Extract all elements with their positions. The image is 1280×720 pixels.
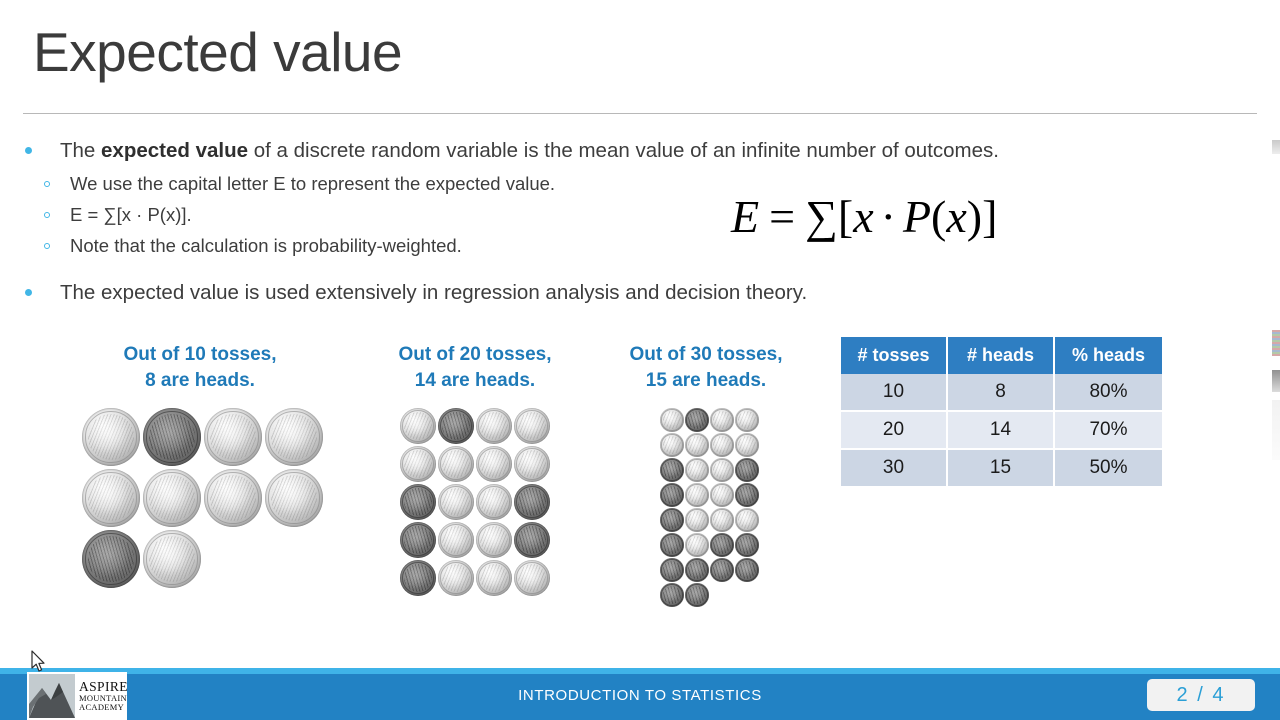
coin-row <box>400 408 552 444</box>
table-cell-tosses: 10 <box>841 374 948 412</box>
coin-heads <box>735 433 759 457</box>
coin-heads <box>476 522 512 558</box>
table-cell-tosses: 20 <box>841 412 948 450</box>
table-cell-pct: 50% <box>1055 450 1162 488</box>
bullet-sub-3: Note that the calculation is probability… <box>22 231 1202 261</box>
coin-heads <box>265 469 323 527</box>
coin-heads <box>400 446 436 482</box>
coin-tails <box>710 558 734 582</box>
coin-field-20-tosses <box>400 408 552 598</box>
footer-accent-strip <box>0 668 1280 674</box>
sub-bullet-ring-icon <box>44 243 50 249</box>
title-divider <box>23 113 1257 114</box>
table-header-tosses: # tosses <box>841 337 948 374</box>
coin-row <box>82 469 326 527</box>
coin-tails <box>735 458 759 482</box>
coin-group-1-title-line2: 8 are heads. <box>100 368 300 394</box>
table-header-pct-heads: % heads <box>1055 337 1162 374</box>
coin-heads <box>514 446 550 482</box>
coin-tails <box>685 583 709 607</box>
formula-x-1: x <box>853 191 873 242</box>
coin-heads <box>660 408 684 432</box>
coin-tails <box>660 583 684 607</box>
bullet-main-1-post: of a discrete random variable is the mea… <box>248 139 999 162</box>
formula-sigma: ∑ <box>805 191 838 242</box>
coin-group-3-title-line2: 15 are heads. <box>606 368 806 394</box>
coin-heads <box>82 408 140 466</box>
coin-group-2-title: Out of 20 tosses, 14 are heads. <box>375 342 575 393</box>
coin-row <box>660 508 760 532</box>
coin-row <box>660 533 760 557</box>
mouse-cursor <box>31 650 47 674</box>
edge-artifact <box>1272 400 1280 460</box>
table-cell-heads: 8 <box>948 374 1055 412</box>
coin-field-30-tosses <box>660 408 760 608</box>
coin-row <box>400 560 552 596</box>
coin-group-1-title: Out of 10 tosses, 8 are heads. <box>100 342 300 393</box>
coin-heads <box>438 560 474 596</box>
coin-heads <box>514 560 550 596</box>
coin-heads <box>710 458 734 482</box>
coin-tails <box>735 483 759 507</box>
bullet-sub-2-text: E = ∑[x · P(x)]. <box>70 204 192 225</box>
coin-heads <box>82 469 140 527</box>
coin-row <box>400 522 552 558</box>
bullet-main-2: The expected value is used extensively i… <box>22 278 1202 309</box>
coin-tails <box>685 408 709 432</box>
coin-tails <box>400 522 436 558</box>
coin-tails <box>514 522 550 558</box>
table-header-heads: # heads <box>948 337 1055 374</box>
coin-tails <box>660 458 684 482</box>
coin-group-1-title-line1: Out of 10 tosses, <box>100 342 300 368</box>
coin-heads <box>735 508 759 532</box>
logo-line-academy: ACADEMY <box>79 703 127 712</box>
formula-paren-close: ) <box>967 191 982 242</box>
coin-heads <box>710 483 734 507</box>
table-row: 10 8 80% <box>841 374 1162 412</box>
bullet-main-1-text: The expected value of a discrete random … <box>60 139 999 162</box>
coin-tails <box>660 508 684 532</box>
edge-artifact <box>1272 330 1280 356</box>
coin-tails <box>514 484 550 520</box>
coin-heads <box>685 508 709 532</box>
coin-heads <box>514 408 550 444</box>
coin-row <box>660 458 760 482</box>
table-row: 20 14 70% <box>841 412 1162 450</box>
bullet-list: The expected value of a discrete random … <box>22 136 1202 310</box>
formula-dot-operator: · <box>881 191 896 242</box>
coin-row <box>660 583 760 607</box>
coin-tails <box>400 560 436 596</box>
table-cell-tosses: 30 <box>841 450 948 488</box>
coin-heads <box>685 433 709 457</box>
coin-tails <box>143 408 201 466</box>
formula-close-bracket: ] <box>982 191 997 242</box>
coin-heads <box>143 530 201 588</box>
coin-tails <box>685 558 709 582</box>
bullet-main-2-text: The expected value is used extensively i… <box>60 281 807 304</box>
coin-heads <box>265 408 323 466</box>
coin-heads <box>710 408 734 432</box>
coin-tails <box>660 483 684 507</box>
coin-row <box>660 558 760 582</box>
formula-E: E <box>731 191 759 242</box>
coin-tails <box>660 533 684 557</box>
table-cell-heads: 14 <box>948 412 1055 450</box>
bullet-main-1-emphasis: expected value <box>101 139 248 162</box>
bullet-sub-1-text: We use the capital letter E to represent… <box>70 173 555 194</box>
coin-tails <box>400 484 436 520</box>
bullet-spacer <box>22 262 1202 278</box>
bullet-dot-icon <box>25 147 32 154</box>
coin-row <box>82 530 326 588</box>
coin-heads <box>143 469 201 527</box>
edge-artifact <box>1272 140 1280 154</box>
coin-row <box>660 408 760 432</box>
coin-tails <box>710 533 734 557</box>
coin-row <box>400 484 552 520</box>
coin-heads <box>438 484 474 520</box>
page-indicator[interactable]: 2 / 4 <box>1147 679 1255 711</box>
coin-tails <box>438 408 474 444</box>
coin-heads <box>685 533 709 557</box>
coin-heads <box>204 408 262 466</box>
coin-heads <box>476 484 512 520</box>
coin-group-2-title-line2: 14 are heads. <box>375 368 575 394</box>
table-cell-pct: 80% <box>1055 374 1162 412</box>
coin-group-3-title: Out of 30 tosses, 15 are heads. <box>606 342 806 393</box>
coin-group-3-title-line1: Out of 30 tosses, <box>606 342 806 368</box>
sub-bullet-ring-icon <box>44 181 50 187</box>
coin-group-2-title-line1: Out of 20 tosses, <box>375 342 575 368</box>
bullet-sub-1: We use the capital letter E to represent… <box>22 169 1202 199</box>
coin-heads <box>710 508 734 532</box>
coin-heads <box>685 458 709 482</box>
coin-tails <box>660 558 684 582</box>
coin-heads <box>685 483 709 507</box>
coin-heads <box>476 560 512 596</box>
coin-heads <box>660 433 684 457</box>
results-table: # tosses # heads % heads 10 8 80% 20 14 … <box>841 337 1162 488</box>
expected-value-formula: E=∑[x·P(x)] <box>731 190 997 243</box>
coin-heads <box>735 408 759 432</box>
coin-heads <box>710 433 734 457</box>
page-title: Expected value <box>33 22 402 83</box>
table-row: 30 15 50% <box>841 450 1162 488</box>
edge-artifact <box>1272 370 1280 392</box>
course-title: INTRODUCTION TO STATISTICS <box>0 687 1280 704</box>
bullet-main-1: The expected value of a discrete random … <box>22 136 1202 167</box>
table-header-row: # tosses # heads % heads <box>841 337 1162 374</box>
coin-tails <box>82 530 140 588</box>
bullet-sub-2: E = ∑[x · P(x)]. <box>22 200 1202 230</box>
coin-row <box>660 483 760 507</box>
slide-canvas: Expected value The expected value of a d… <box>0 0 1280 720</box>
coin-row <box>400 446 552 482</box>
coin-row <box>82 408 326 466</box>
coin-tails <box>735 558 759 582</box>
coin-heads <box>476 408 512 444</box>
coin-heads <box>438 522 474 558</box>
coin-heads <box>400 408 436 444</box>
coin-heads <box>476 446 512 482</box>
bullet-main-1-pre: The <box>60 139 101 162</box>
formula-equals: = <box>769 191 795 242</box>
coin-heads <box>204 469 262 527</box>
table-cell-pct: 70% <box>1055 412 1162 450</box>
coin-heads <box>438 446 474 482</box>
formula-x-2: x <box>946 191 966 242</box>
bullet-sub-3-text: Note that the calculation is probability… <box>70 235 462 256</box>
coin-row <box>660 433 760 457</box>
formula-open-bracket: [ <box>838 191 853 242</box>
formula-paren-open: ( <box>931 191 946 242</box>
coin-tails <box>735 533 759 557</box>
table-cell-heads: 15 <box>948 450 1055 488</box>
formula-P: P <box>903 191 931 242</box>
sub-bullet-ring-icon <box>44 212 50 218</box>
coin-field-10-tosses <box>82 408 326 591</box>
bullet-dot-icon <box>25 289 32 296</box>
